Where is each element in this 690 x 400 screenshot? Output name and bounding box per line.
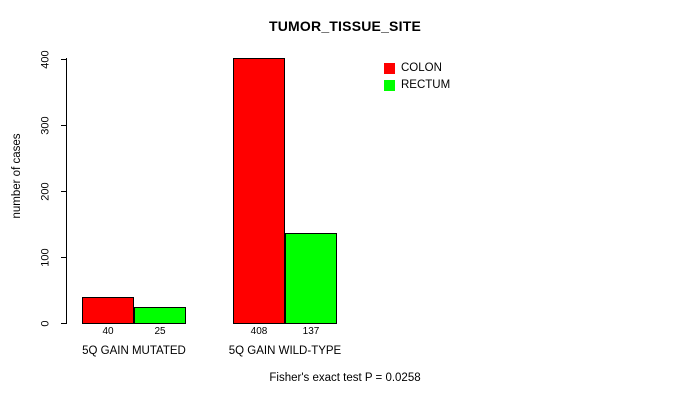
- group-label-5q-gain-wild-type: 5Q GAIN WILD-TYPE: [185, 345, 385, 357]
- bar-value-colon-5q-gain-mutated: 40: [83, 327, 133, 337]
- bar-rectum-5q-gain-mutated[interactable]: [134, 307, 186, 324]
- chart-canvas: TUMOR_TISSUE_SITE 0 100 200 300 400 numb…: [0, 0, 690, 400]
- legend-label-colon: COLON: [401, 62, 442, 74]
- bar-rectum-5q-gain-wild-type[interactable]: [285, 233, 337, 324]
- legend: COLON RECTUM: [384, 60, 450, 94]
- legend-item-colon[interactable]: COLON: [384, 60, 450, 76]
- legend-label-rectum: RECTUM: [401, 79, 450, 91]
- legend-item-rectum[interactable]: RECTUM: [384, 77, 450, 93]
- bar-value-rectum-5q-gain-mutated: 25: [135, 327, 185, 337]
- bar-value-colon-5q-gain-wild-type: 408: [234, 327, 284, 337]
- legend-swatch-rectum-icon: [384, 80, 395, 91]
- bar-value-rectum-5q-gain-wild-type: 137: [286, 327, 336, 337]
- bar-colon-5q-gain-wild-type[interactable]: [233, 58, 285, 324]
- legend-swatch-colon-icon: [384, 63, 395, 74]
- plot-area: 40 25 5Q GAIN MUTATED 408 137 5Q GAIN WI…: [0, 0, 690, 400]
- bar-colon-5q-gain-mutated[interactable]: [82, 297, 134, 324]
- chart-caption: Fisher's exact test P = 0.0258: [0, 372, 690, 384]
